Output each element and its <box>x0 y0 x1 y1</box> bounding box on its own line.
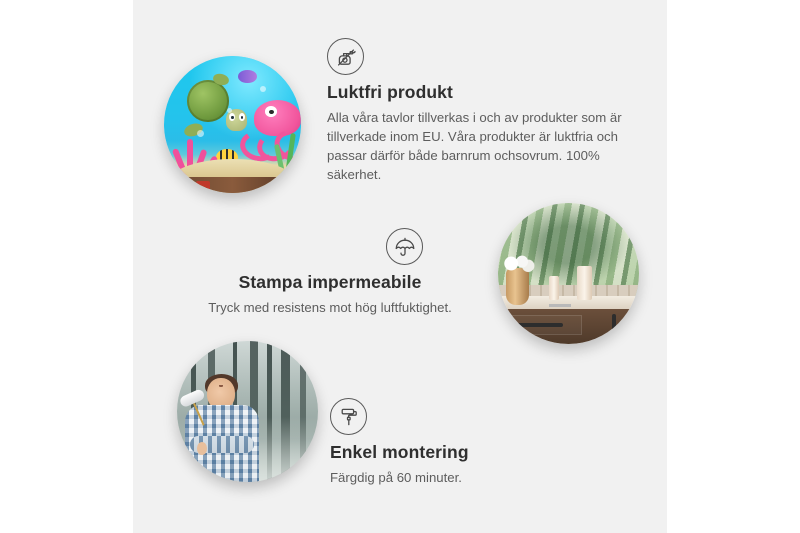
turtle-illustration <box>183 78 246 133</box>
feature-title: Luktfri produkt <box>327 82 627 104</box>
fish-purple <box>238 70 257 84</box>
shipwreck <box>175 177 290 193</box>
underwater-scene <box>164 56 301 193</box>
feature-easy-mounting: Enkel montering Färgdig på 60 minuter. <box>330 398 610 487</box>
umbrella-icon <box>386 228 423 265</box>
flowers <box>501 254 535 274</box>
no-fragrance-icon <box>327 38 364 75</box>
bottle <box>549 276 559 300</box>
feature-description: Färgdig på 60 minuter. <box>330 468 610 487</box>
wooden-vanity <box>498 309 639 344</box>
faucet <box>549 304 572 307</box>
feature-description: Alla våra tavlor tillverkas i och av pro… <box>327 108 627 185</box>
feature-title: Stampa impermeabile <box>195 272 465 294</box>
feature-description: Tryck med resistens mot hög luftfuktighe… <box>195 298 465 317</box>
product-image-underwater[interactable] <box>164 56 301 193</box>
product-image-bathroom[interactable] <box>498 203 639 344</box>
feature-odourless: Luktfri produkt Alla våra tavlor tillver… <box>327 38 627 184</box>
feature-title: Enkel montering <box>330 442 610 464</box>
forest-scene <box>177 341 318 482</box>
product-image-painter[interactable] <box>177 341 318 482</box>
bottle <box>577 266 593 300</box>
bathroom-scene <box>498 203 639 344</box>
paint-roller-icon <box>330 398 367 435</box>
painter-person <box>185 378 258 482</box>
page-root: Luktfri produkt Alla våra tavlor tillver… <box>0 0 800 533</box>
feature-waterproof: Stampa impermeabile Tryck med resistens … <box>195 228 465 317</box>
